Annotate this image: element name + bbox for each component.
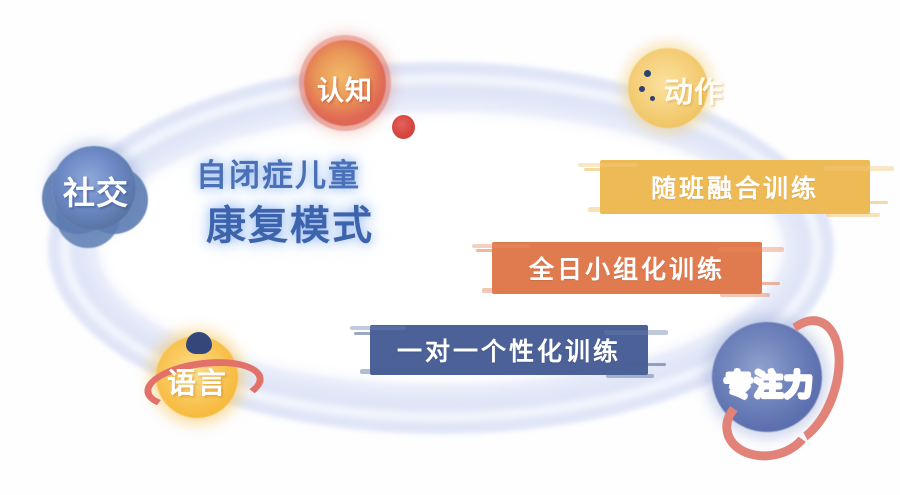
banner-one-on-one-training[interactable]: 一对一个性化训练 bbox=[370, 325, 648, 375]
motion-dot-icon bbox=[650, 96, 655, 101]
node-label-social: 社交 bbox=[63, 168, 129, 214]
node-cognition[interactable]: 认知 bbox=[296, 38, 394, 136]
center-title: 自闭症儿童 康复模式 bbox=[196, 158, 496, 251]
banner-label: 全日小组化训练 bbox=[529, 250, 725, 286]
node-label-language: 语言 bbox=[167, 360, 227, 402]
title-line-1: 自闭症儿童 bbox=[196, 158, 496, 195]
banner-full-day-group-training[interactable]: 全日小组化训练 bbox=[492, 242, 762, 294]
node-label-motion: 动作 bbox=[664, 69, 724, 111]
title-line-2: 康复模式 bbox=[206, 201, 496, 251]
red-accent-dot bbox=[392, 115, 415, 139]
banner-label: 随班融合训练 bbox=[651, 169, 819, 205]
motion-dot-icon bbox=[644, 70, 651, 77]
motion-dot-icon bbox=[639, 86, 645, 92]
node-label-attention: 专注力 bbox=[724, 362, 814, 404]
node-attention[interactable]: 专注力 bbox=[706, 318, 832, 438]
node-language[interactable]: 语言 bbox=[140, 336, 254, 422]
infographic-canvas: 自闭症儿童 康复模式 随班融合训练 全日小组化训练 一对一个性化训练 认知 bbox=[0, 0, 900, 495]
language-cap-icon bbox=[186, 332, 212, 354]
node-label-cognition: 认知 bbox=[317, 69, 373, 108]
banner-label: 一对一个性化训练 bbox=[397, 332, 621, 368]
node-social[interactable]: 社交 bbox=[36, 146, 156, 236]
node-motion[interactable]: 动作 bbox=[628, 52, 738, 128]
banner-inclusive-training[interactable]: 随班融合训练 bbox=[600, 160, 870, 214]
